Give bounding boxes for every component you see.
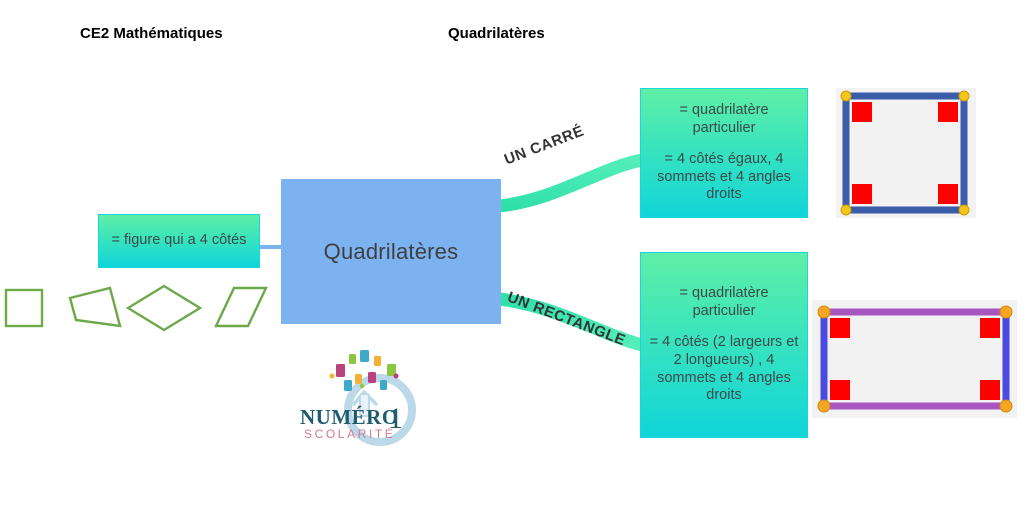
square-vertex-dot xyxy=(959,205,969,215)
example-shape-square xyxy=(6,290,42,326)
rectangle-right-angle-marker xyxy=(830,380,850,400)
square-vertex-dot xyxy=(841,91,851,101)
figure-square xyxy=(836,88,976,218)
figure-rectangle xyxy=(812,300,1017,418)
branch-label-rectangle: UN RECTANGLE xyxy=(505,289,628,350)
rectangle-vertex-dot xyxy=(1000,400,1012,412)
example-shape-parallelogram xyxy=(216,288,266,326)
page-title-topic: Quadrilatères xyxy=(448,25,545,42)
rectangle-right-angle-marker xyxy=(980,318,1000,338)
rectangle-right-angle-marker xyxy=(980,380,1000,400)
logo-word-secondary: SCOLARITÉ xyxy=(304,426,395,441)
definition-box-rectangle[interactable]: = quadrilatère particulier = 4 côtés (2 … xyxy=(640,252,808,438)
definition-rectangle-line1: = quadrilatère particulier xyxy=(649,285,799,320)
square-right-angle-marker xyxy=(938,184,958,204)
definition-square-line1: = quadrilatère particulier xyxy=(649,102,799,137)
connector-center-to-square xyxy=(499,160,642,206)
central-node-label: Quadrilatères xyxy=(324,239,459,265)
example-shape-irregular-quadrilateral xyxy=(70,288,120,326)
page-title-subject: CE2 Mathématiques xyxy=(80,25,223,42)
example-shapes-strip xyxy=(0,278,270,338)
logo-word-primary: NUMÉRO xyxy=(300,405,399,429)
rectangle-right-angle-marker xyxy=(830,318,850,338)
square-right-angle-marker xyxy=(938,102,958,122)
rectangle-vertex-dot xyxy=(818,306,830,318)
slide-canvas: CE2 Mathématiques Quadrilatères Quadrila… xyxy=(0,0,1028,523)
branch-label-square: UN CARRÉ xyxy=(502,122,586,168)
definition-base-text: = figure qui a 4 côtés xyxy=(111,232,246,250)
square-right-angle-marker xyxy=(852,184,872,204)
definition-box-square[interactable]: = quadrilatère particulier = 4 côtés éga… xyxy=(640,88,808,218)
rectangle-vertex-dot xyxy=(1000,306,1012,318)
square-right-angle-marker xyxy=(852,102,872,122)
example-shape-rhombus xyxy=(128,286,200,330)
logo-numero1-scolarite: NUMÉRO 1 SCOLARITÉ xyxy=(292,342,432,447)
definition-box-base[interactable]: = figure qui a 4 côtés xyxy=(98,214,260,268)
definition-square-line2: = 4 côtés égaux, 4 sommets et 4 angles d… xyxy=(649,151,799,204)
square-vertex-dot xyxy=(959,91,969,101)
square-vertex-dot xyxy=(841,205,851,215)
central-node-quadrilaterals[interactable]: Quadrilatères xyxy=(281,179,501,324)
rectangle-interior xyxy=(824,312,1006,406)
rectangle-vertex-dot xyxy=(818,400,830,412)
definition-rectangle-line2: = 4 côtés (2 largeurs et 2 longueurs) , … xyxy=(649,334,799,405)
